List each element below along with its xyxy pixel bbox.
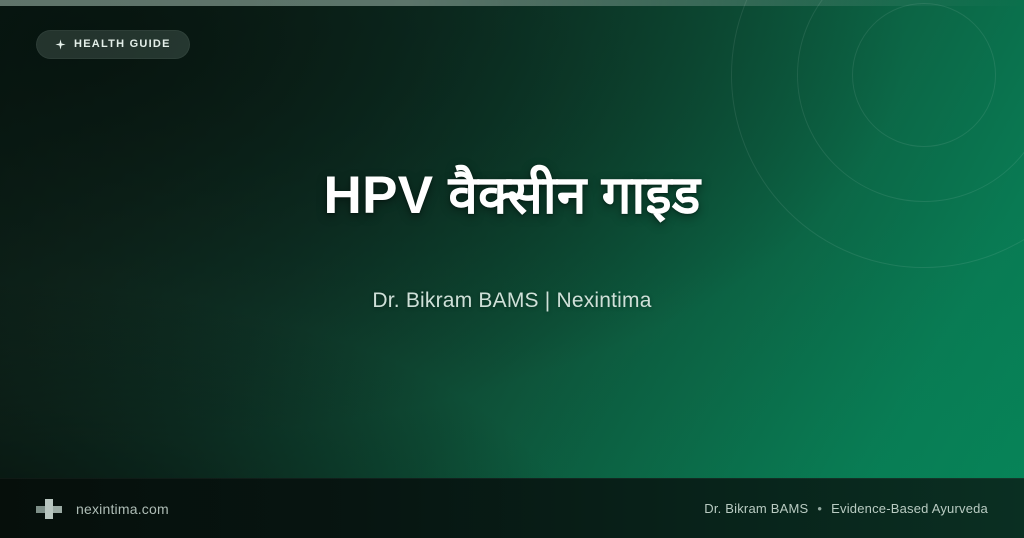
hero-content: HPV वैक्सीन गाइड Dr. Bikram BAMS | Nexin… xyxy=(0,0,1024,478)
footer-brand[interactable]: nexintima.com xyxy=(36,499,169,519)
slide-footer: nexintima.com Dr. Bikram BAMS • Evidence… xyxy=(0,478,1024,538)
footer-credits: Dr. Bikram BAMS • Evidence-Based Ayurved… xyxy=(704,501,988,516)
footer-tagline: Evidence-Based Ayurveda xyxy=(831,501,988,516)
page-title: HPV वैक्सीन गाइड xyxy=(324,165,701,228)
page-subtitle: Dr. Bikram BAMS | Nexintima xyxy=(372,227,651,313)
cross-logo-icon xyxy=(36,499,62,519)
footer-site-url: nexintima.com xyxy=(76,501,169,517)
footer-author: Dr. Bikram BAMS xyxy=(704,501,808,516)
footer-separator: • xyxy=(817,502,822,515)
title-slide: HEALTH GUIDE HPV वैक्सीन गाइड Dr. Bikram… xyxy=(0,0,1024,538)
